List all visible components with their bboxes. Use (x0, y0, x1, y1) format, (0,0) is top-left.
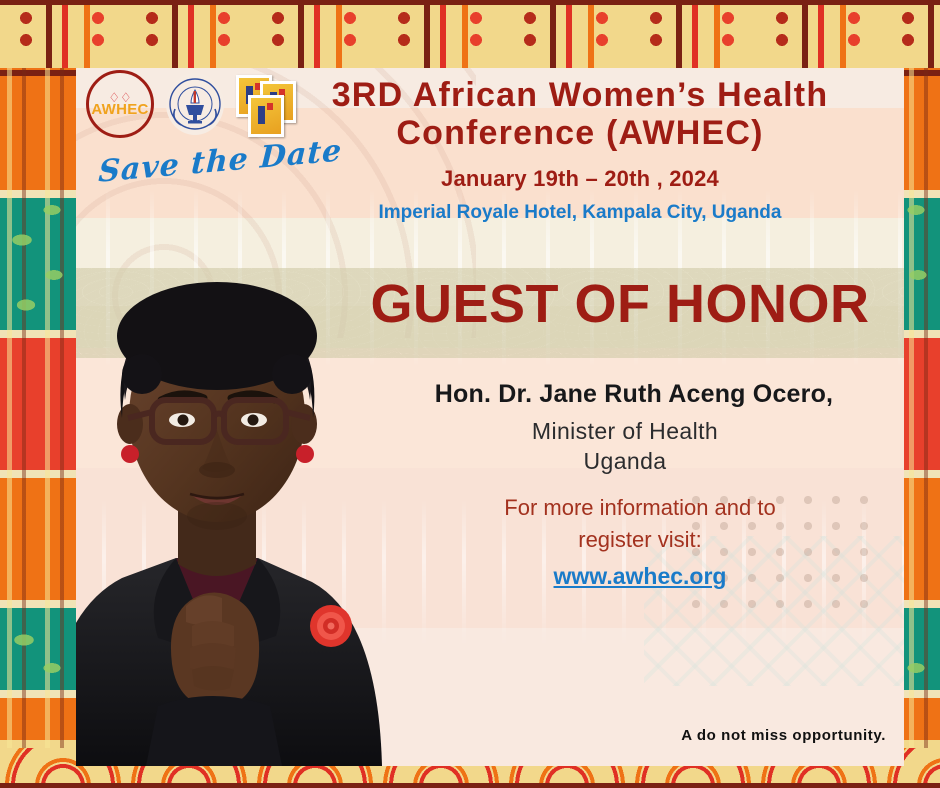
conference-title: 3RD African Women’s Health Conference (A… (266, 76, 894, 152)
portrait-illustration (76, 186, 396, 766)
poster-content-panel: ♢♢ AWHEC (76, 68, 904, 766)
registration-info: For more information and to register vis… (406, 492, 874, 593)
awhec-logo-label: AWHEC (91, 102, 148, 118)
footer-tagline: A do not miss opportunity. (681, 727, 886, 744)
uganda-medical-association-logo (166, 73, 224, 135)
guest-role: Minister of Health Uganda (376, 416, 874, 476)
event-poster: ♢♢ AWHEC (0, 0, 940, 788)
rose-brooch-icon (310, 605, 352, 647)
top-border-rule (0, 0, 940, 5)
registration-info-line-1: For more information and to (406, 492, 874, 524)
medical-seal-icon (167, 75, 223, 133)
guest-name: Hon. Dr. Jane Ruth Aceng Ocero, (376, 380, 892, 409)
bottom-border-rule (0, 783, 940, 788)
top-border-dots (0, 0, 940, 68)
left-border-pattern (0, 0, 76, 788)
guest-role-line-2: Uganda (376, 446, 874, 476)
registration-info-line-2: register visit: (406, 524, 874, 556)
section-heading-guest-of-honor: GUEST OF HONOR (356, 273, 884, 335)
top-border-band (0, 0, 940, 68)
awhec-logo: ♢♢ AWHEC (86, 70, 154, 138)
guest-portrait (76, 186, 396, 766)
guest-role-line-1: Minister of Health (376, 416, 874, 446)
website-link[interactable]: www.awhec.org (554, 560, 727, 592)
